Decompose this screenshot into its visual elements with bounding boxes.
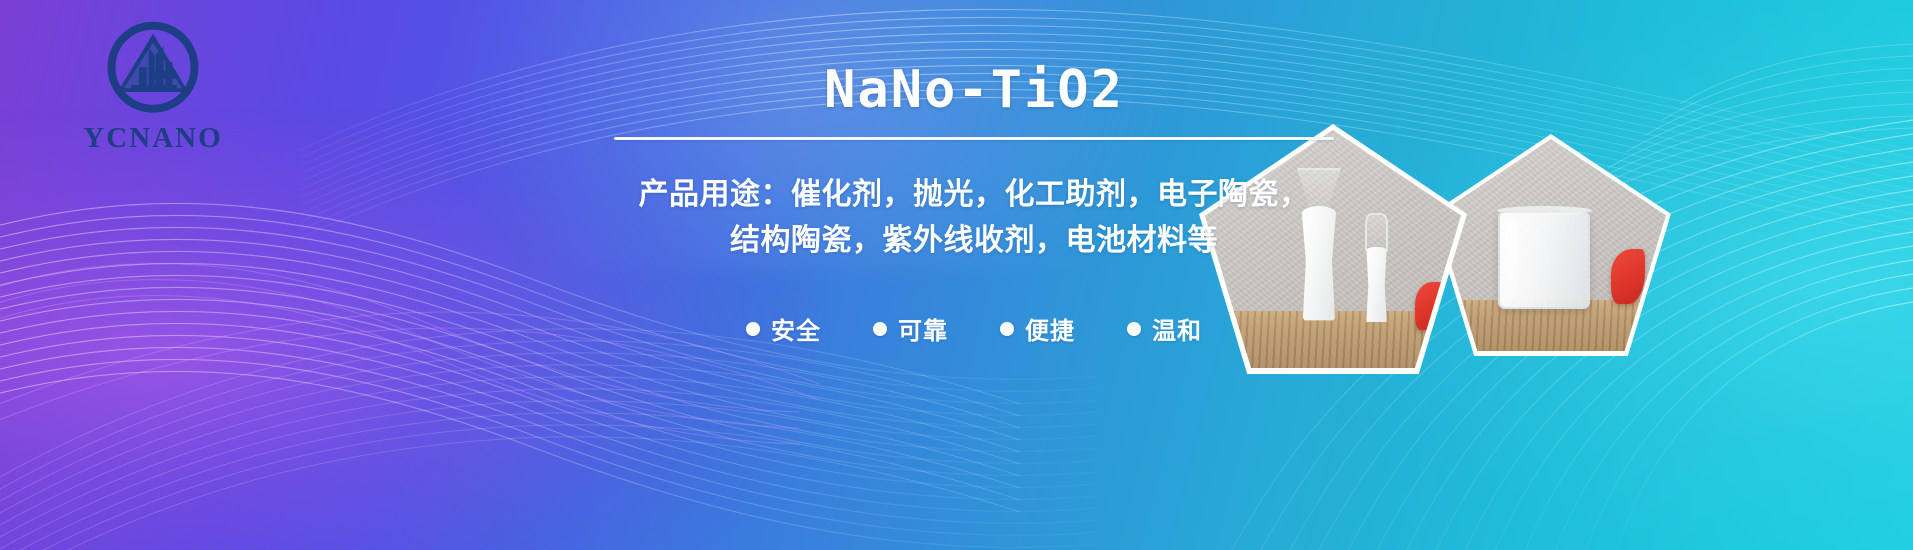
feature-item-reliable: 可靠 bbox=[873, 311, 948, 346]
feature-list: 安全 可靠 便捷 温和 bbox=[604, 311, 1344, 346]
feature-label: 安全 bbox=[771, 311, 821, 346]
product-banner: YCNANO NaNo-TiO2 产品用途：催化剂，抛光，化工助剂，电子陶瓷， … bbox=[0, 0, 1913, 550]
ycnano-mountain-circle-logo-icon bbox=[100, 16, 206, 122]
vase-glass-top bbox=[1365, 213, 1388, 251]
bullet-dot-icon bbox=[873, 322, 887, 336]
feature-item-mild: 温和 bbox=[1127, 311, 1202, 346]
feature-item-safe: 安全 bbox=[746, 311, 821, 346]
feature-item-convenient: 便捷 bbox=[1000, 311, 1075, 346]
white-liquid-beaker-photo bbox=[1436, 139, 1666, 351]
product-headline: NaNo-TiO2 bbox=[604, 62, 1344, 119]
usage-line-1: 产品用途：催化剂，抛光，化工助剂，电子陶瓷， bbox=[604, 172, 1344, 218]
usage-line-2: 结构陶瓷，紫外线收剂，电池材料等 bbox=[604, 218, 1344, 264]
title-divider bbox=[614, 137, 1334, 140]
product-usage-description: 产品用途：催化剂，抛光，化工助剂，电子陶瓷， 结构陶瓷，紫外线收剂，电池材料等 bbox=[604, 172, 1344, 263]
feature-label: 便捷 bbox=[1025, 311, 1075, 346]
feature-label: 温和 bbox=[1152, 311, 1202, 346]
feature-label: 可靠 bbox=[898, 311, 948, 346]
bullet-dot-icon bbox=[1127, 322, 1141, 336]
banner-content: NaNo-TiO2 产品用途：催化剂，抛光，化工助剂，电子陶瓷， 结构陶瓷，紫外… bbox=[604, 62, 1344, 346]
bullet-dot-icon bbox=[746, 322, 760, 336]
brand-wordmark: YCNANO bbox=[48, 124, 258, 153]
brand-logo[interactable]: YCNANO bbox=[48, 16, 258, 153]
bullet-dot-icon bbox=[1000, 322, 1014, 336]
beaker-with-white-liquid bbox=[1498, 213, 1590, 308]
